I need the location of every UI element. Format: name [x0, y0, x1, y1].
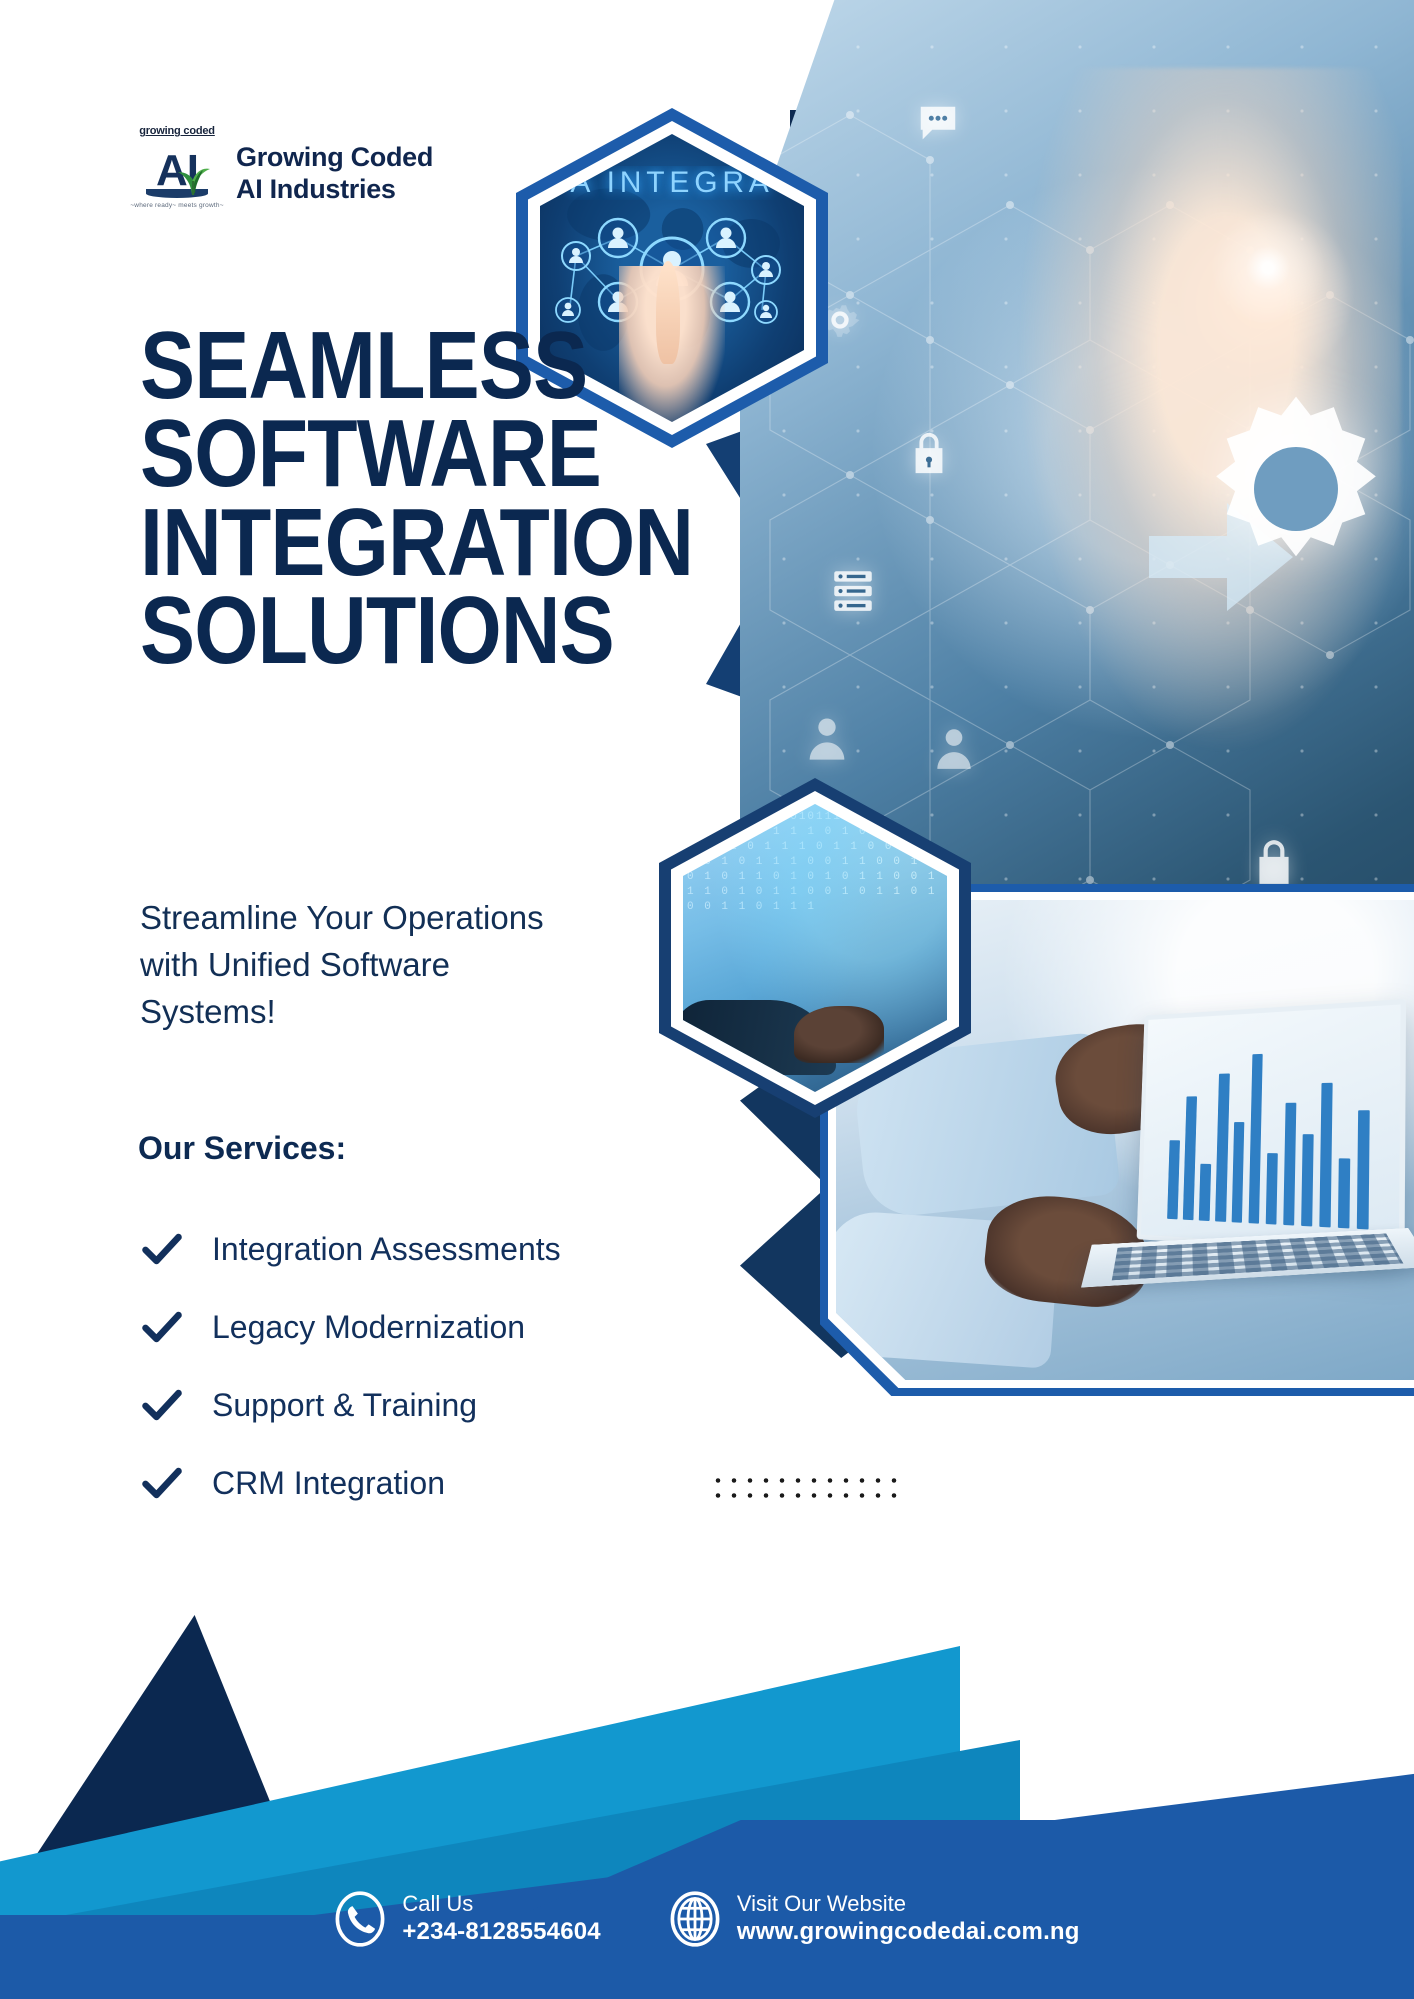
headline-line-3: INTEGRATION [140, 499, 622, 587]
phone-label: Call Us [402, 1891, 601, 1917]
service-label: Legacy Modernization [212, 1309, 525, 1346]
check-icon [140, 1383, 184, 1427]
lock-icon [909, 429, 949, 475]
service-label: CRM Integration [212, 1465, 445, 1502]
logo-mark: growing coded AI ~where ready~ meets gro… [140, 125, 214, 223]
laptop-keys [1112, 1233, 1404, 1280]
server-icon [828, 565, 878, 615]
pointing-finger [656, 261, 680, 365]
website-value: www.growingcodedai.com.ng [737, 1918, 1080, 1947]
contact-footer: Call Us +234-8128554604 Visit Our Websit… [0, 1873, 1414, 1965]
code-typing-hand [794, 1006, 884, 1064]
user-business-icon [929, 723, 979, 773]
logo-top-text: growing coded [139, 125, 215, 137]
dot-grid-decoration [710, 1473, 900, 1499]
service-label: Integration Assessments [212, 1231, 561, 1268]
globe-icon [669, 1891, 721, 1947]
page-title: SEAMLESS SOFTWARE INTEGRATION SOLUTIONS [140, 322, 622, 675]
contact-phone-text: Call Us +234-8128554604 [402, 1891, 601, 1946]
brand-name-line1: Growing Coded [236, 142, 433, 174]
subheadline: Streamline Your Operations with Unified … [140, 895, 590, 1036]
poster-canvas: A INTEGRA 1 0 110 0 1 01011100111 0 1 0 … [0, 0, 1414, 1999]
sprout-icon [172, 161, 214, 195]
website-label: Visit Our Website [737, 1891, 1080, 1917]
list-item: Legacy Modernization [140, 1288, 760, 1366]
hero-light-glare [1203, 203, 1333, 333]
list-item: CRM Integration [140, 1444, 760, 1522]
screen-chart [1160, 1024, 1378, 1229]
headline-line-4: SOLUTIONS [140, 587, 622, 675]
services-list: Integration Assessments Legacy Moderniza… [140, 1210, 760, 1522]
list-item: Support & Training [140, 1366, 760, 1444]
headline-line-2: SOFTWARE [140, 410, 622, 498]
phone-icon [334, 1891, 386, 1947]
large-gear-icon [1191, 384, 1401, 594]
check-icon [140, 1305, 184, 1349]
contact-phone[interactable]: Call Us +234-8128554604 [334, 1891, 601, 1947]
logo-ai-text: AI [156, 151, 198, 191]
service-label: Support & Training [212, 1387, 477, 1424]
check-icon [140, 1461, 184, 1505]
services-heading: Our Services: [138, 1130, 346, 1167]
brand-name-line2: AI Industries [236, 174, 433, 206]
chat-bubble-icon [915, 102, 961, 146]
check-icon [140, 1227, 184, 1271]
lock-icon [1252, 836, 1296, 886]
contact-website[interactable]: Visit Our Website www.growingcodedai.com… [669, 1891, 1080, 1947]
contact-website-text: Visit Our Website www.growingcodedai.com… [737, 1891, 1080, 1946]
phone-value: +234-8128554604 [402, 1918, 601, 1947]
brand-name: Growing Coded AI Industries [236, 142, 433, 206]
logo-tagline: ~where ready~ meets growth~ [130, 202, 223, 209]
headline-line-1: SEAMLESS [140, 322, 622, 410]
laptop-screen [1137, 998, 1407, 1256]
brand-logo-block: growing coded AI ~where ready~ meets gro… [140, 125, 433, 223]
user-business-icon [801, 712, 853, 764]
list-item: Integration Assessments [140, 1210, 760, 1288]
